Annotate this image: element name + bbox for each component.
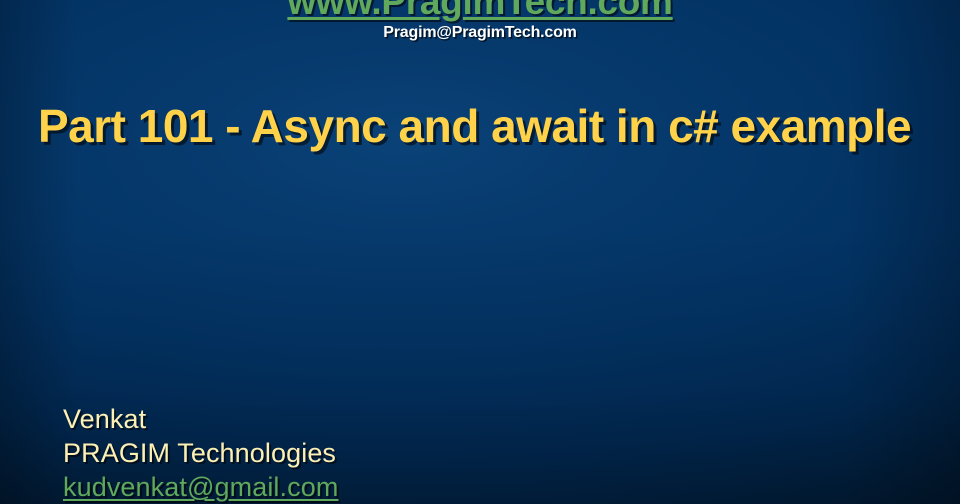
page-title-line-2: example (731, 100, 912, 152)
author-name: Venkat (63, 402, 338, 436)
page-title: Part 101 - Async and await in c# example (38, 99, 918, 153)
presentation-slide: www.PragimTech.com Pragim@PragimTech.com… (0, 0, 960, 504)
site-url-link[interactable]: www.PragimTech.com (287, 0, 672, 20)
site-contact-email: Pragim@PragimTech.com (0, 25, 960, 41)
author-email-link[interactable]: kudvenkat@gmail.com (63, 470, 338, 504)
author-block: Venkat PRAGIM Technologies kudvenkat@gma… (63, 402, 338, 504)
slide-header: www.PragimTech.com Pragim@PragimTech.com (0, 0, 960, 41)
page-title-line-1: Part 101 - Async and await in c# (38, 100, 718, 152)
author-organization: PRAGIM Technologies (63, 436, 338, 470)
